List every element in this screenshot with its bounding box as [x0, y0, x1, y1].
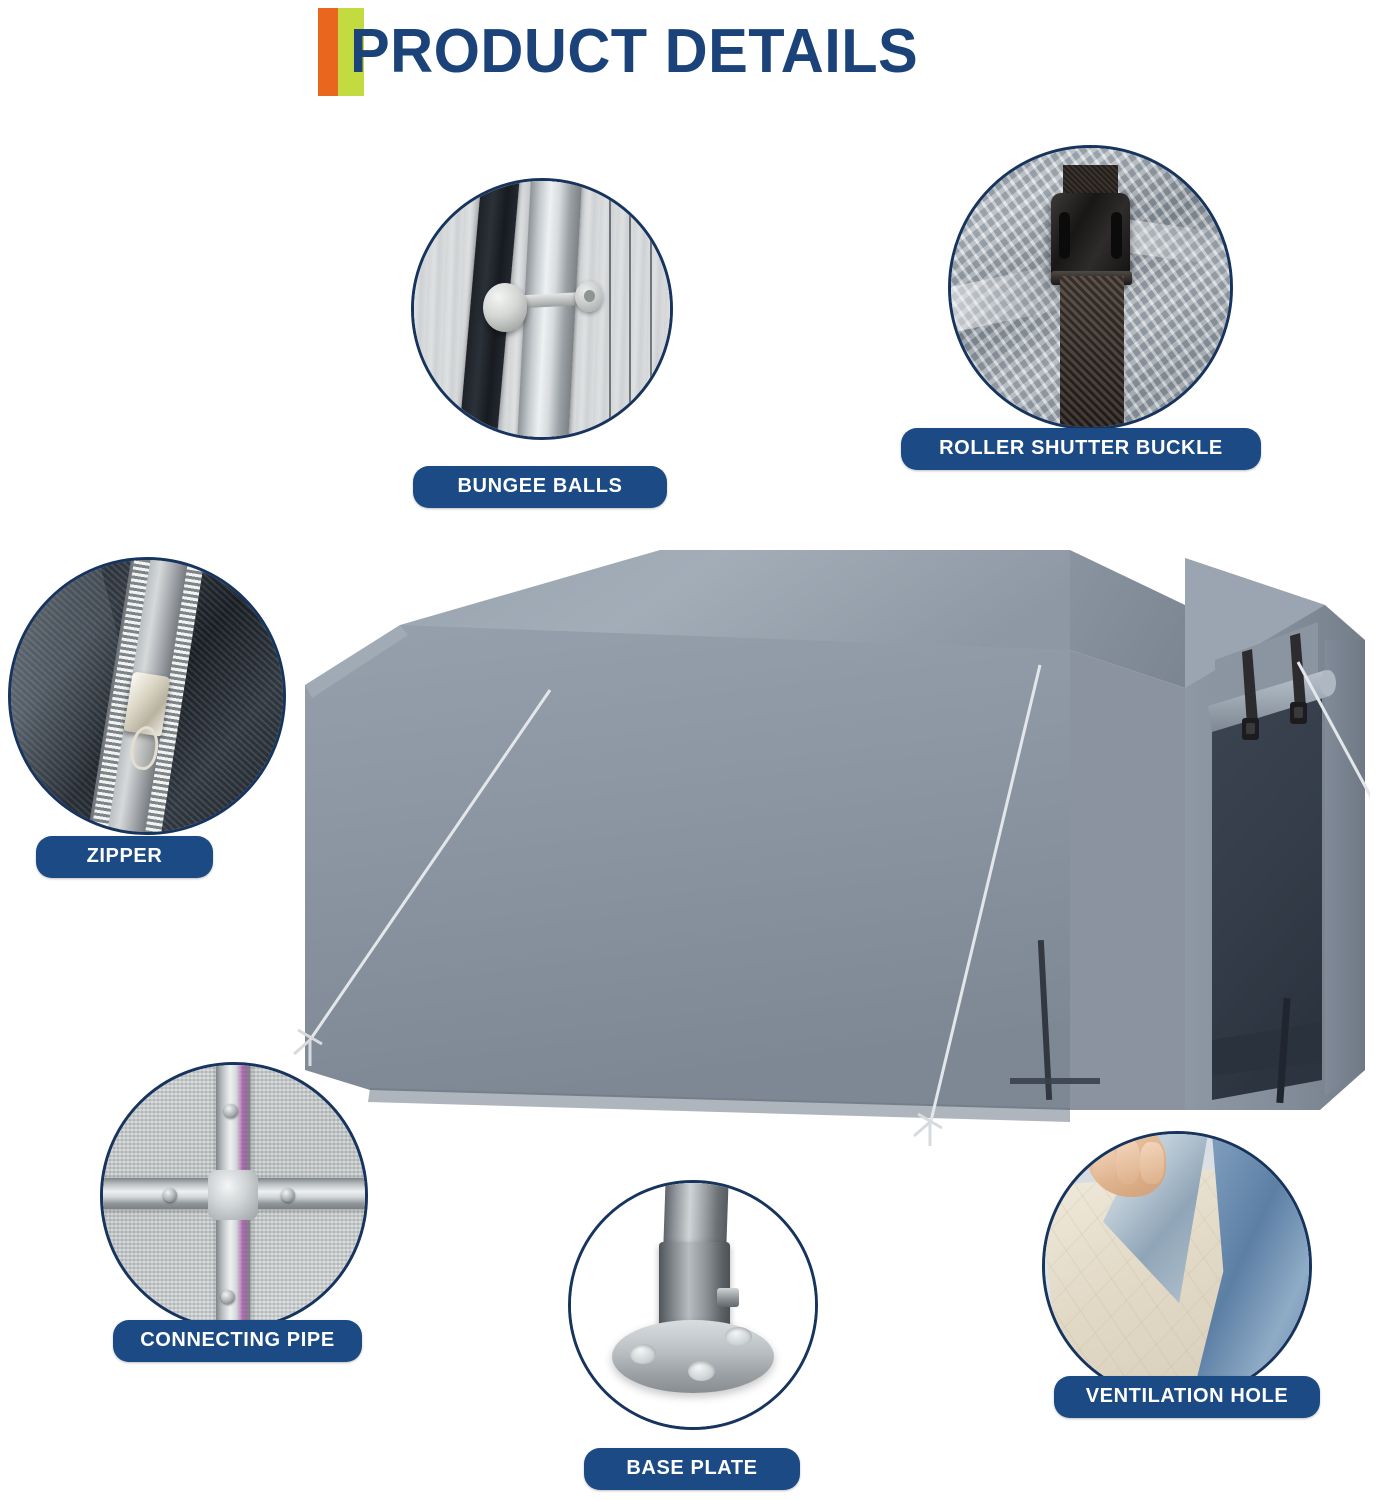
anchor-hole-left	[630, 1344, 657, 1364]
pipe-screw-top	[224, 1104, 238, 1118]
ventilation-hole-photo	[1042, 1131, 1312, 1401]
finger-1	[1093, 1145, 1117, 1185]
base-plate-photo	[568, 1180, 818, 1430]
badge-bungee-balls: BUNGEE BALLS	[413, 466, 667, 508]
product-illustration-shed	[250, 510, 1370, 1150]
product-details-page: PRODUCT DETAILS	[0, 0, 1392, 1500]
bungee-ring	[575, 281, 603, 312]
side-release-buckle	[1051, 193, 1129, 282]
badge-roller-shutter-buckle: ROLLER SHUTTER BUCKLE	[901, 428, 1261, 470]
finger-3	[1140, 1142, 1164, 1184]
anchor-hole-right	[725, 1327, 752, 1347]
connecting-pipe-photo	[100, 1062, 368, 1330]
stake-center	[914, 1114, 942, 1146]
bungee-balls-photo	[411, 178, 673, 440]
page-header: PRODUCT DETAILS	[318, 8, 942, 96]
finger-2	[1116, 1139, 1140, 1184]
anchor-hole-center	[688, 1361, 715, 1381]
roller-shutter-buckle-photo	[948, 145, 1233, 430]
shed-doorway	[1212, 678, 1322, 1100]
page-title: PRODUCT DETAILS	[350, 8, 918, 96]
zipper-photo	[8, 557, 286, 835]
webbing-strap	[1060, 276, 1124, 427]
pipe-cross-joint	[208, 1170, 258, 1220]
accent-bar-orange	[318, 8, 338, 96]
shed-side-wall	[305, 625, 1070, 1122]
badge-zipper: ZIPPER	[36, 836, 213, 878]
badge-base-plate: BASE PLATE	[584, 1448, 800, 1490]
sleeve-bolt	[717, 1288, 739, 1308]
badge-connecting-pipe: CONNECTING PIPE	[113, 1320, 362, 1362]
badge-ventilation-hole: VENTILATION HOLE	[1054, 1376, 1320, 1418]
bungee-ball	[483, 283, 527, 332]
